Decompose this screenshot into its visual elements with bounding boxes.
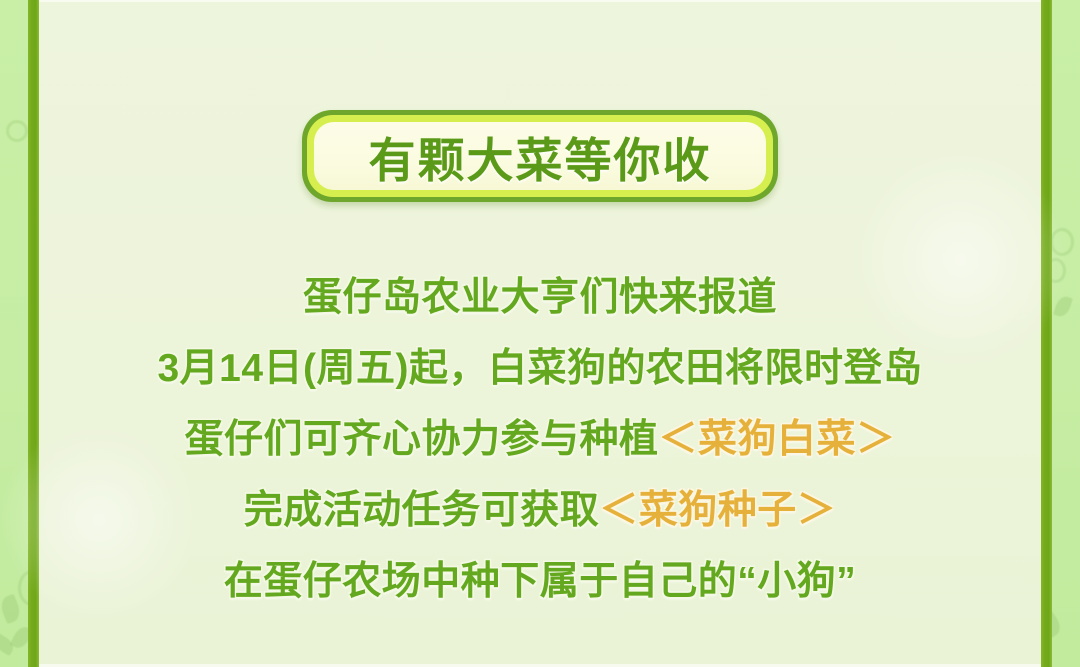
body-text: 蛋仔岛农业大亨们快来报道	[303, 276, 777, 319]
body-line: 蛋仔岛农业大亨们快来报道	[303, 262, 777, 333]
body-line: 完成活动任务可获取＜菜狗种子＞	[244, 475, 837, 546]
title-badge: 有颗大菜等你收	[302, 110, 778, 202]
body-text: 蛋仔们可齐心协力参与种植	[184, 418, 658, 461]
circle-motif	[6, 120, 28, 142]
body-line: 在蛋仔农场中种下属于自己的“小狗”	[224, 546, 857, 617]
page-title: 有颗大菜等你收	[369, 122, 712, 191]
body-line: 蛋仔们可齐心协力参与种植＜菜狗白菜＞	[184, 404, 895, 475]
body-line: 3月14日(周五)起，白菜狗的农田将限时登岛	[157, 333, 922, 404]
body-text: 在蛋仔农场中种下属于自己的“小狗”	[224, 560, 857, 603]
panel-top-hairline	[39, 0, 1041, 2]
highlight-item-name: ＜菜狗种子＞	[599, 489, 836, 532]
promo-poster: 有颗大菜等你收 蛋仔岛农业大亨们快来报道3月14日(周五)起，白菜狗的农田将限时…	[0, 0, 1080, 667]
body-text: 完成活动任务可获取	[244, 489, 600, 532]
body-text-block: 蛋仔岛农业大亨们快来报道3月14日(周五)起，白菜狗的农田将限时登岛蛋仔们可齐心…	[39, 262, 1041, 617]
highlight-item-name: ＜菜狗白菜＞	[659, 418, 896, 461]
body-text: 3月14日(周五)起，白菜狗的农田将限时登岛	[157, 347, 922, 390]
